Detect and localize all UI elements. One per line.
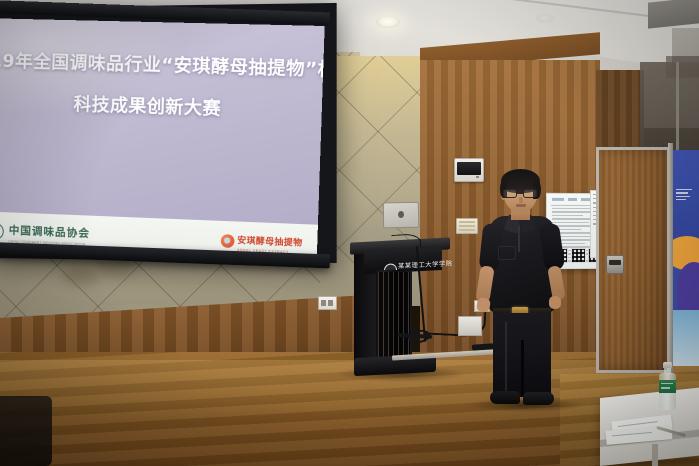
trouser-crease — [505, 322, 507, 392]
shirt-placket — [518, 226, 520, 252]
foreground-chair — [0, 396, 52, 466]
banner-text-lines — [676, 189, 696, 203]
shoe-right — [523, 392, 554, 405]
eyebrows — [505, 186, 536, 188]
conference-room-scene: 2019年全国调味品行业“安琪酵母抽提物”杯 科技成果创新大赛 ❊ 中国调味品协… — [0, 0, 699, 466]
door-jamb — [668, 143, 673, 375]
bottle-label — [659, 380, 676, 393]
banner-purple-shape — [677, 262, 699, 310]
nose — [519, 197, 523, 203]
hand-left — [476, 297, 491, 313]
association-name-cn: 中国调味品协会 — [9, 224, 91, 239]
angel-name-cn: 安琪酵母抽提物 — [237, 236, 303, 249]
podium-institution-name: 某某理工大学学院 — [398, 260, 452, 270]
recessed-downlight-secondary-icon — [536, 14, 554, 23]
mouth — [516, 204, 526, 207]
slide-title: 2019年全国调味品行业“安琪酵母抽提物”杯 科技成果创新大赛 — [0, 48, 324, 127]
shirt-pocket — [498, 246, 516, 260]
apple-logo-icon — [398, 211, 404, 218]
table-leg — [652, 444, 658, 466]
glass-partition — [640, 62, 699, 152]
seal-icon: ❊ — [0, 222, 4, 240]
bottle-cap — [663, 362, 672, 368]
angel-flame-icon — [220, 234, 234, 248]
water-bottle — [658, 362, 677, 410]
bottle-neck — [664, 367, 671, 374]
trouser-leg-gap — [521, 340, 524, 396]
small-wall-panel-icon[interactable] — [456, 218, 478, 234]
macbook-laptop[interactable] — [383, 202, 419, 228]
shoe-left — [490, 391, 520, 404]
colorful-event-banner — [673, 150, 699, 366]
glass-mullion — [676, 62, 679, 152]
presenter — [476, 172, 572, 407]
qr-code-2-icon — [571, 248, 586, 263]
podium-grille — [378, 272, 410, 364]
projection-screen: 2019年全国调味品行业“安琪酵母抽提物”杯 科技成果创新大赛 ❊ 中国调味品协… — [0, 8, 325, 258]
banner-bottom-area — [673, 310, 699, 366]
power-outlet-icon[interactable] — [318, 296, 337, 310]
door-handle-icon[interactable] — [606, 255, 624, 274]
projection-screen-surface: 2019年全国调味品行业“安琪酵母抽提物”杯 科技成果创新大赛 ❊ 中国调味品协… — [0, 18, 325, 265]
recessed-downlight-icon — [376, 16, 400, 28]
